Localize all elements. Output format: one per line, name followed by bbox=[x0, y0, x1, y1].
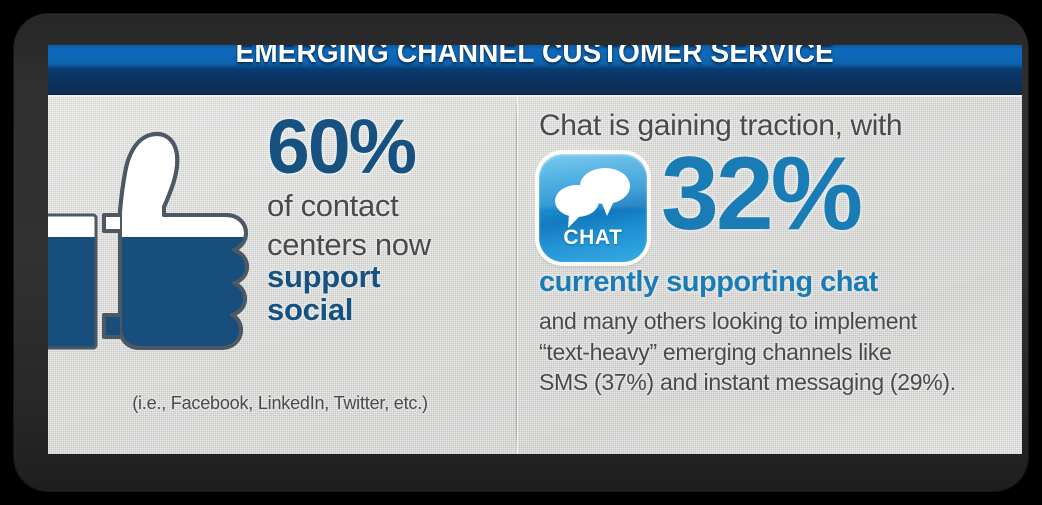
left-emphasis-line-2: social bbox=[267, 294, 512, 327]
page-title-text: EMERGING CHANNEL CUSTOMER SERVICE bbox=[236, 45, 834, 70]
fist-shape bbox=[102, 134, 272, 367]
left-stat-block: 60% of contact centers now support socia… bbox=[267, 111, 512, 326]
right-body-line-2: “text-heavy” emerging channels like bbox=[539, 337, 1012, 368]
right-body-line-3: SMS (37%) and instant messaging (29%). bbox=[539, 367, 1012, 398]
device-bezel: EMERGING CHANNEL CUSTOMER SERVICE bbox=[14, 14, 1028, 491]
left-emphasis-line-1: support bbox=[267, 261, 512, 294]
left-stat-value: 60% bbox=[267, 111, 512, 184]
page-title: EMERGING CHANNEL CUSTOMER SERVICE bbox=[48, 53, 1022, 87]
chat-bubbles-icon: CHAT bbox=[539, 154, 647, 262]
header-bar: EMERGING CHANNEL CUSTOMER SERVICE bbox=[48, 45, 1022, 95]
left-stat-panel: 60% of contact centers now support socia… bbox=[48, 97, 516, 454]
left-caption: (i.e., Facebook, LinkedIn, Twitter, etc.… bbox=[48, 393, 512, 414]
right-stat-value: 32% bbox=[661, 142, 860, 246]
left-desc-line-1: of contact bbox=[267, 190, 512, 223]
card-body: 60% of contact centers now support socia… bbox=[48, 95, 1022, 454]
right-emphasis-text: currently supporting chat bbox=[539, 266, 1012, 299]
right-content: Chat is gaining traction, with bbox=[539, 109, 1012, 398]
right-body-line-1: and many others looking to implement bbox=[539, 306, 1012, 337]
infographic-card: EMERGING CHANNEL CUSTOMER SERVICE bbox=[48, 45, 1022, 454]
sleeve-shape bbox=[48, 215, 96, 348]
right-body-text: and many others looking to implement “te… bbox=[539, 306, 1012, 398]
chat-stat-row: CHAT 32% bbox=[539, 148, 1012, 264]
thumbs-up-icon bbox=[48, 119, 276, 387]
chat-icon-label: CHAT bbox=[539, 226, 647, 250]
left-desc-line-2: centers now bbox=[267, 229, 512, 262]
right-stat-panel: Chat is gaining traction, with bbox=[517, 97, 1022, 454]
